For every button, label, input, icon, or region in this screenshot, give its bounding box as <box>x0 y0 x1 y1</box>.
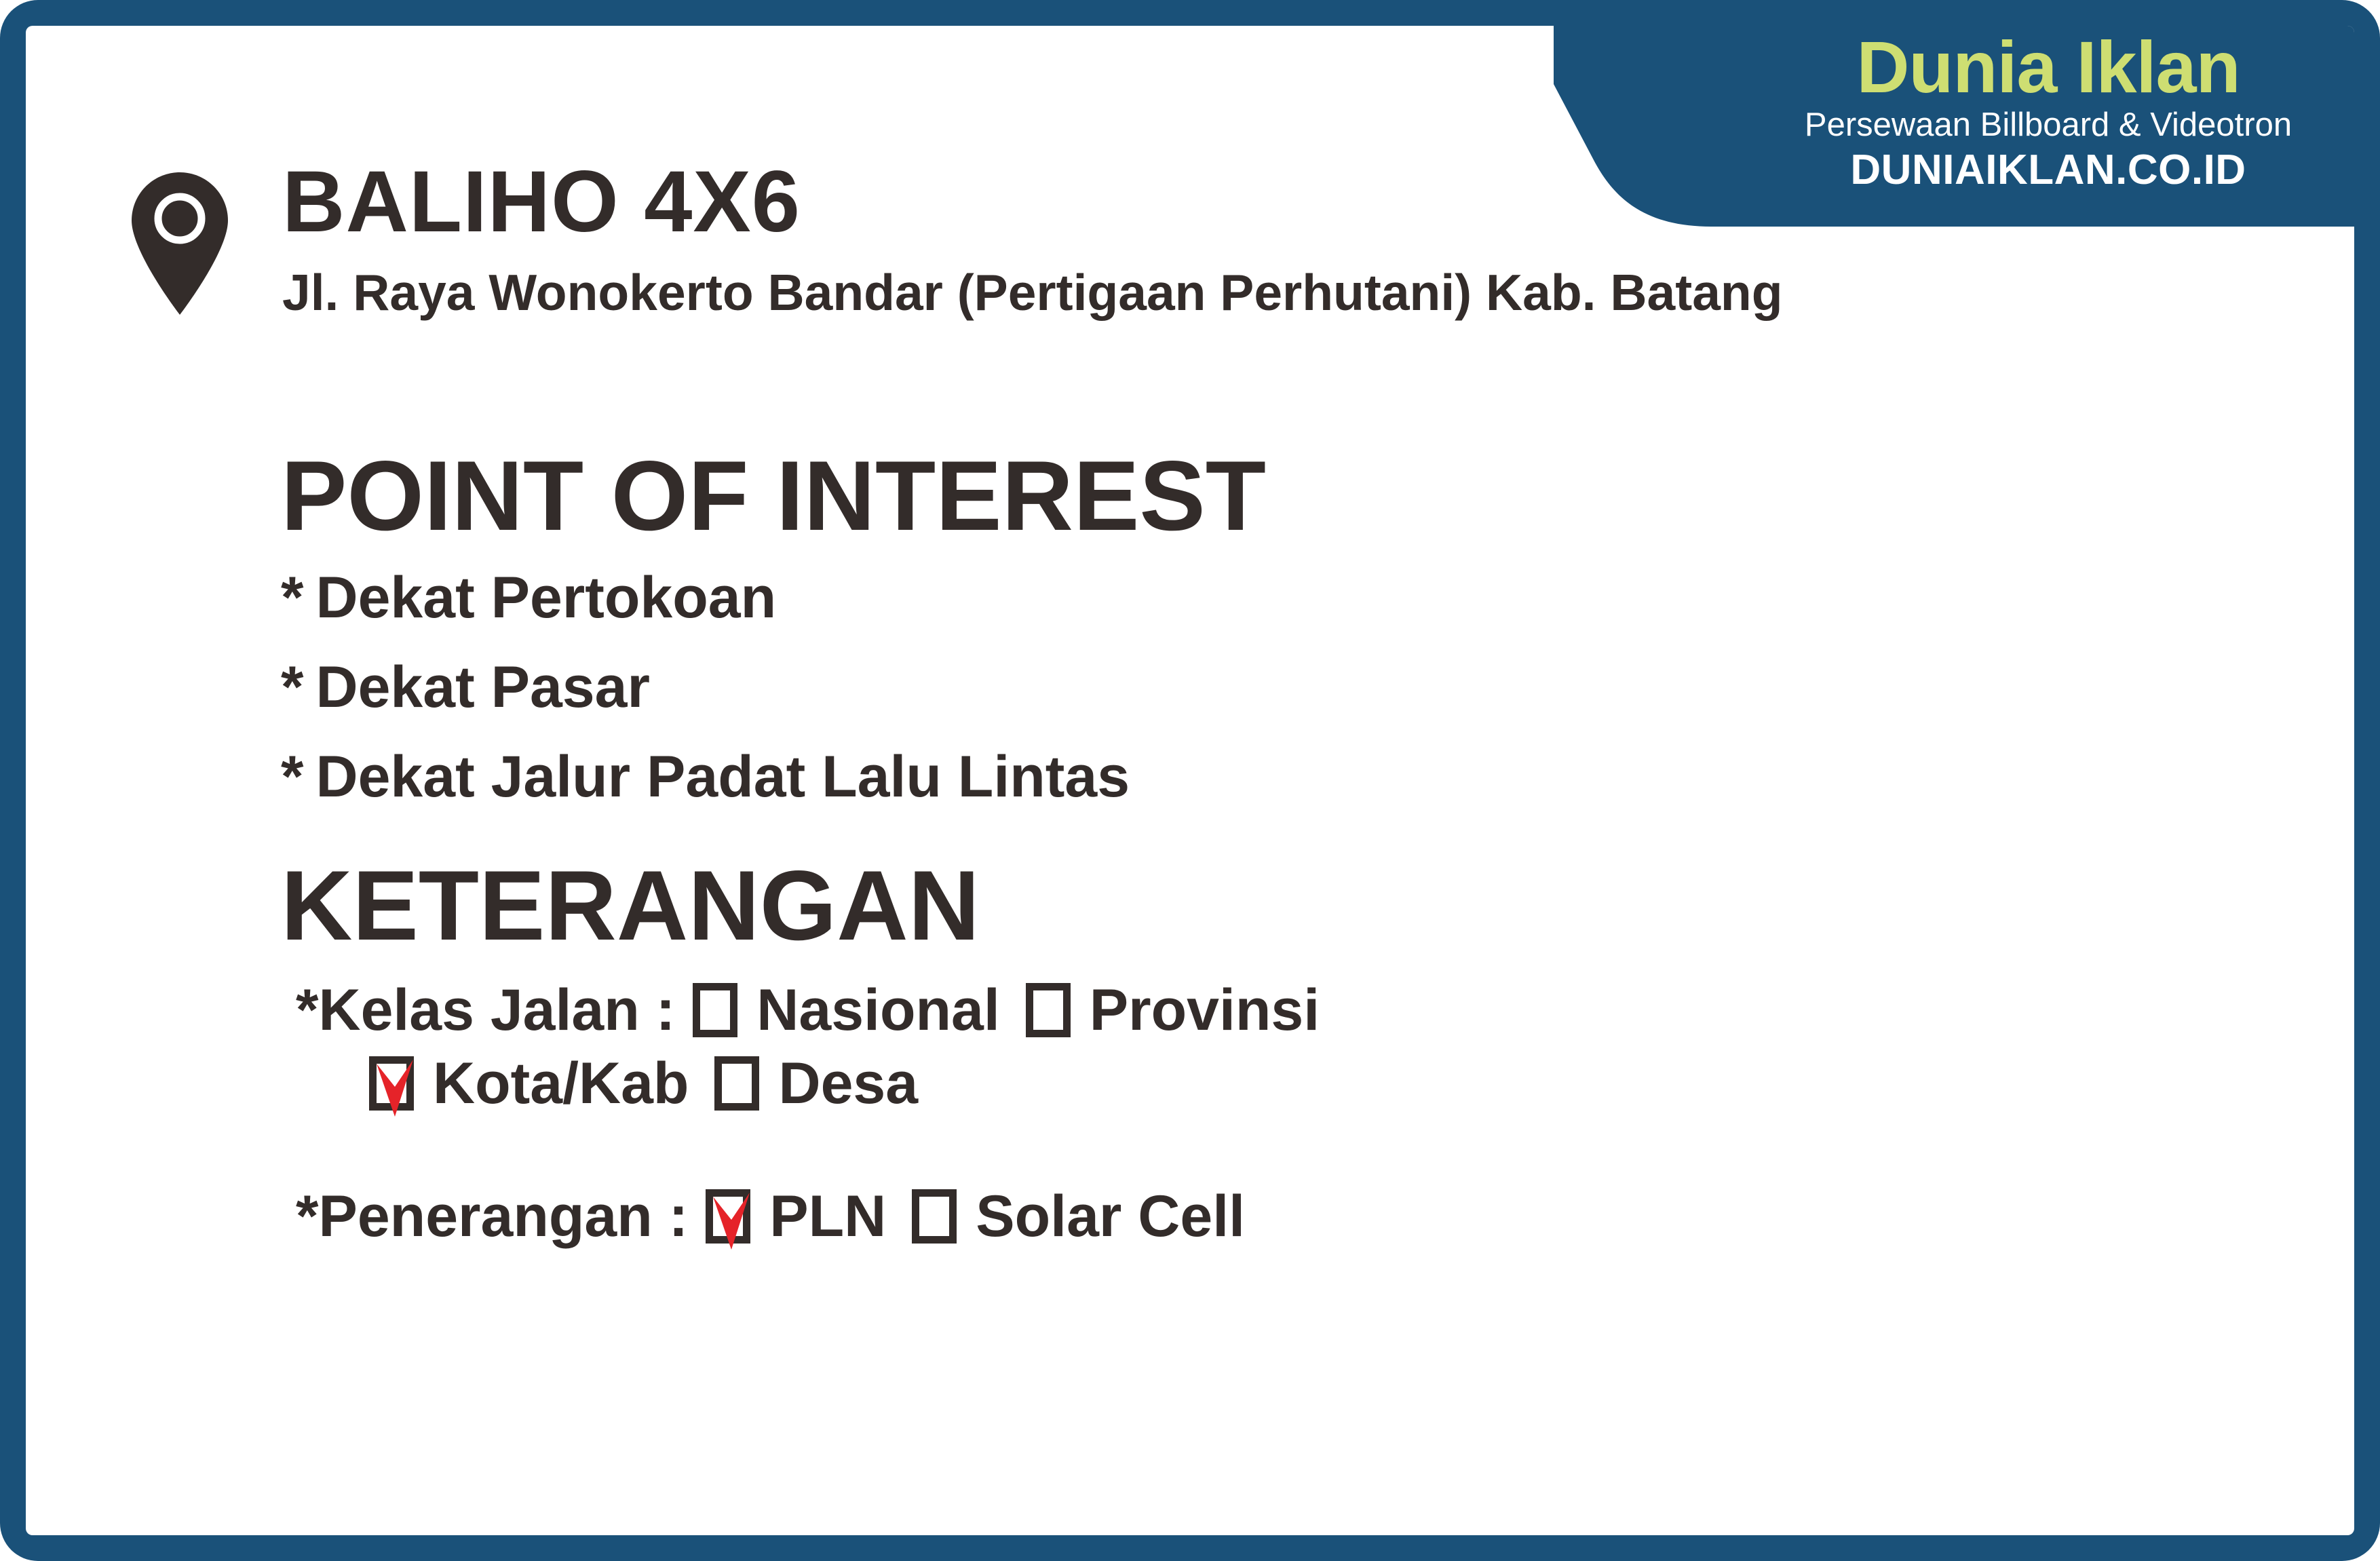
location-pin-icon <box>132 172 228 315</box>
bullet-star: * <box>281 748 303 806</box>
list-item-label: Dekat Pertokoan <box>315 565 776 630</box>
body-content: POINT OF INTEREST *Dekat Pertokoan *Deka… <box>281 446 2316 1246</box>
point-of-interest-heading: POINT OF INTEREST <box>281 446 2316 568</box>
billboard-address: Jl. Raya Wonokerto Bandar (Pertigaan Per… <box>282 246 2318 318</box>
header-text: BALIHO 4X6 Jl. Raya Wonokerto Bandar (Pe… <box>282 159 2318 318</box>
list-item: *Dekat Pertokoan <box>281 568 2316 658</box>
penerangan-row: * Penerangan : PLN Solar Cell <box>296 1113 2316 1246</box>
billboard-info-card: Dunia Iklan Persewaan Billboard & Videot… <box>0 0 2380 1561</box>
list-item: *Dekat Jalur Padat Lalu Lintas <box>281 748 2316 837</box>
brand-tagline: Persewaan Billboard & Videotron <box>1780 104 2316 144</box>
checkbox-label-nasional: Nasional <box>756 981 999 1039</box>
keterangan-block: * Kelas Jalan : Nasional Provinsi <box>281 981 2316 1246</box>
list-item: *Dekat Pasar <box>281 658 2316 748</box>
bullet-star: * <box>281 658 303 716</box>
list-item-label: Dekat Jalur Padat Lalu Lintas <box>315 744 1130 809</box>
checkbox-pln[interactable] <box>706 1189 750 1244</box>
kelas-jalan-row-1: * Kelas Jalan : Nasional Provinsi <box>296 981 2316 1054</box>
checkbox-label-desa: Desa <box>778 1054 918 1113</box>
checkbox-provinsi[interactable] <box>1026 983 1071 1037</box>
point-of-interest-list: *Dekat Pertokoan *Dekat Pasar *Dekat Jal… <box>281 568 2316 837</box>
check-icon <box>372 1057 417 1122</box>
kelas-jalan-row-2: Kota/Kab Desa <box>296 1054 2316 1113</box>
checkbox-nasional[interactable] <box>693 983 737 1037</box>
checkbox-label-pln: PLN <box>769 1187 886 1246</box>
page-title: BALIHO 4X6 <box>282 159 2318 246</box>
checkbox-label-solar-cell: Solar Cell <box>976 1187 1245 1246</box>
check-icon <box>709 1190 754 1255</box>
checkbox-label-provinsi: Provinsi <box>1090 981 1320 1039</box>
checkbox-label-kota-kab: Kota/Kab <box>433 1054 689 1113</box>
penerangan-label: Penerangan : <box>318 1187 688 1246</box>
checkbox-desa[interactable] <box>714 1056 759 1111</box>
brand-title: Dunia Iklan <box>1780 26 2316 104</box>
bullet-star: * <box>296 1187 318 1246</box>
card-inner-surface: Dunia Iklan Persewaan Billboard & Videot… <box>26 26 2354 1535</box>
keterangan-heading: KETERANGAN <box>281 837 2316 981</box>
checkbox-solar-cell[interactable] <box>912 1189 957 1244</box>
bullet-star: * <box>296 981 318 1039</box>
kelas-jalan-label: Kelas Jalan : <box>318 981 675 1039</box>
checkbox-kota-kab[interactable] <box>369 1056 414 1111</box>
bullet-star: * <box>281 568 303 627</box>
list-item-label: Dekat Pasar <box>315 655 649 720</box>
